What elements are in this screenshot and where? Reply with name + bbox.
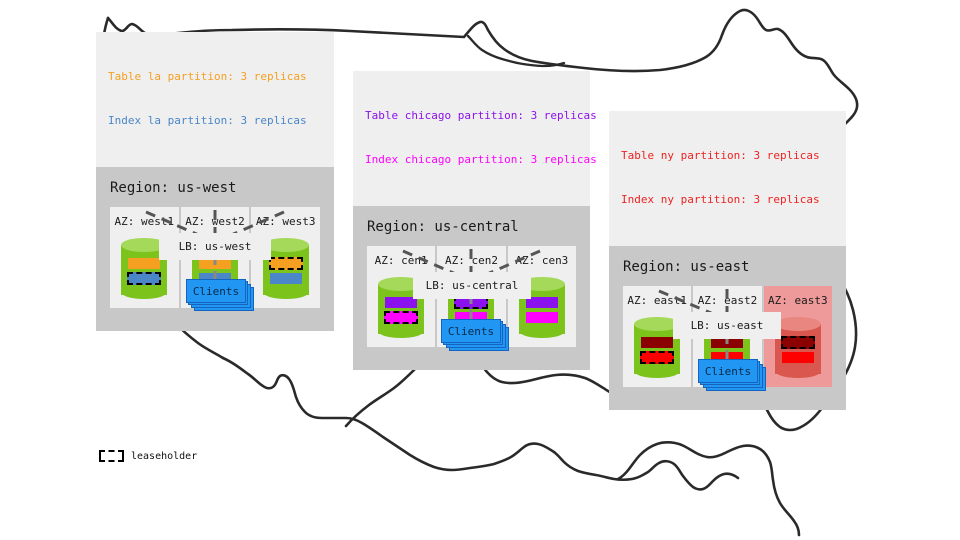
legend-label: leaseholder bbox=[131, 451, 197, 462]
load-balancer-us-east[interactable]: LB: us-east bbox=[673, 312, 781, 339]
clients-label-us-central[interactable]: Clients bbox=[441, 319, 501, 343]
dashed-rect-icon bbox=[99, 450, 124, 462]
clients-us-west[interactable]: Clients bbox=[186, 279, 258, 313]
clients-us-central[interactable]: Clients bbox=[441, 319, 513, 353]
load-balancer-us-west[interactable]: LB: us-west bbox=[159, 233, 271, 260]
diagram-canvas: Table la partition: 3 replicas Index la … bbox=[0, 0, 960, 540]
clients-label-us-west[interactable]: Clients bbox=[186, 279, 246, 303]
legend-leaseholder: leaseholder bbox=[99, 450, 197, 462]
load-balancer-us-central[interactable]: LB: us-central bbox=[413, 272, 531, 299]
clients-us-east[interactable]: Clients bbox=[698, 359, 770, 393]
clients-label-us-east[interactable]: Clients bbox=[698, 359, 758, 383]
